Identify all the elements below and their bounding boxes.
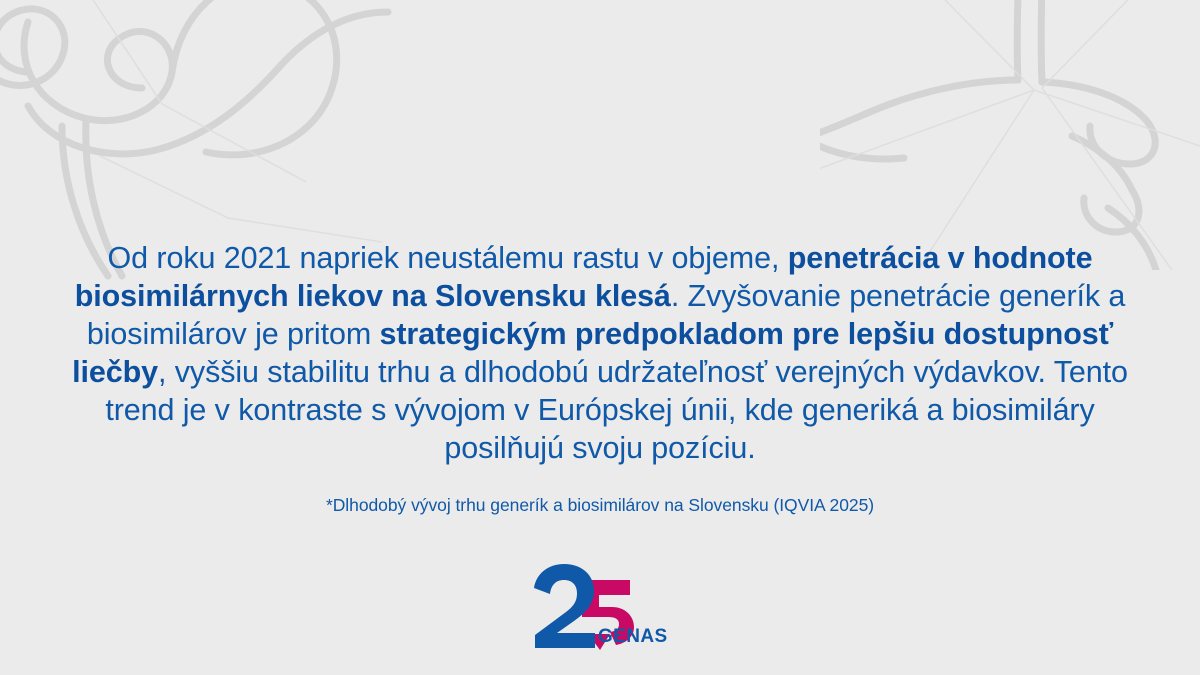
logo-accent-dot [620, 635, 626, 638]
content-area: Od roku 2021 napriek neustálemu rastu v … [0, 0, 1200, 675]
statement-text: Od roku 2021 napriek neustálemu rastu v … [108, 241, 788, 275]
slide-canvas: Od roku 2021 napriek neustálemu rastu v … [0, 0, 1200, 675]
statement-text: , vyššiu stabilitu trhu a dlhodobú udrža… [105, 355, 1127, 465]
genas-logo: GENAS [526, 562, 674, 650]
genas-logo-icon: GENAS [526, 562, 674, 650]
logo-wordmark: GENAS [598, 626, 668, 647]
logo-numeral-two [534, 564, 595, 648]
source-footnote: *Dlhodobý vývoj trhu generík a biosimilá… [0, 494, 1200, 516]
statement-paragraph: Od roku 2021 napriek neustálemu rastu v … [62, 239, 1138, 467]
svg-text:GENAS: GENAS [598, 626, 668, 647]
